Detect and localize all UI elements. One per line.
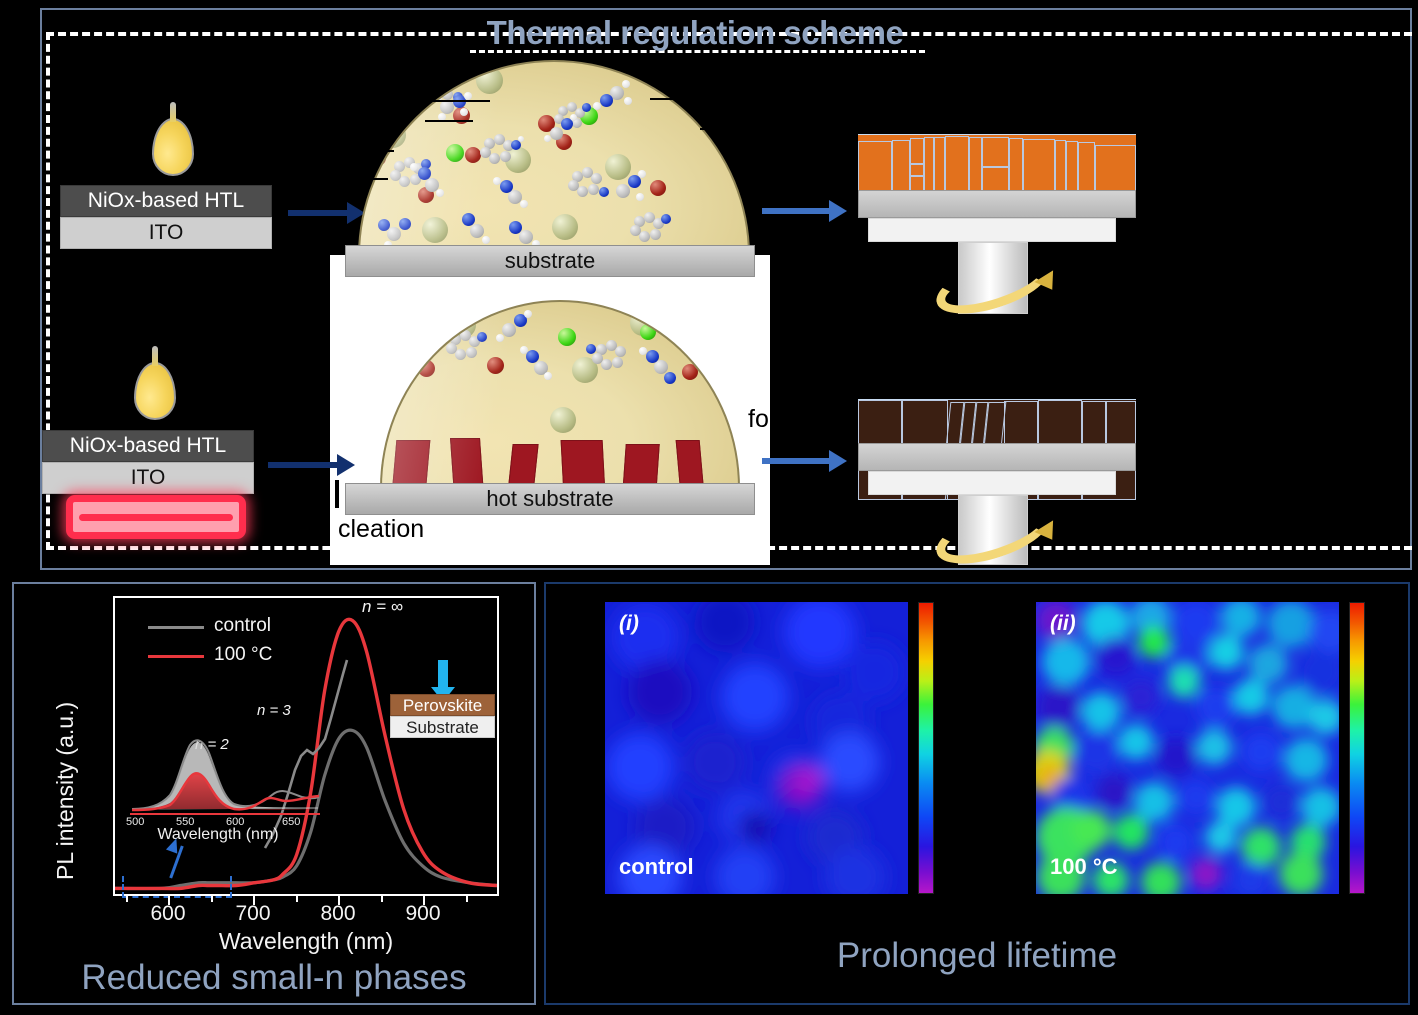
ink-droplet-icon-control	[152, 118, 194, 176]
perovskite-nuclei	[676, 440, 705, 488]
pl-y-axis-label: PL intensity (a.u.)	[52, 702, 79, 880]
nucleation-annotation: cleation	[338, 515, 424, 544]
leader-line	[420, 100, 490, 102]
perovskite-nuclei	[450, 438, 484, 488]
perovskite-nuclei	[622, 444, 659, 488]
substrate-label-heated: hot substrate	[345, 483, 755, 515]
annotation-tick	[335, 480, 339, 508]
legend-swatch-hot	[148, 655, 204, 658]
chloride-ion	[580, 107, 598, 125]
coater-substrate-heated	[858, 443, 1136, 471]
iodide-ion	[556, 134, 572, 150]
caption-right: Prolonged lifetime	[546, 936, 1408, 976]
cesium-ion	[476, 67, 503, 94]
map-i-svg	[605, 602, 908, 894]
rainbow-colorbar-ii	[1349, 602, 1365, 894]
x-tick-minor	[211, 896, 213, 902]
leader-line	[352, 150, 394, 152]
x-tick-label-700: 700	[223, 902, 283, 926]
cesium-ion	[672, 320, 696, 344]
iodide-ion	[465, 147, 481, 163]
iodide-ion	[418, 360, 435, 377]
cesium-ion	[422, 217, 448, 243]
chloride-ion	[446, 144, 464, 162]
iodide-ion	[487, 357, 504, 374]
perovskite-nuclei	[507, 444, 538, 488]
scheme-title: Thermal regulation scheme	[460, 14, 930, 52]
htl-layer-label-heated: NiOx-based HTL	[42, 430, 254, 462]
legend-label-hot: 100 °C	[214, 644, 272, 666]
hotplate-heating-element-icon	[66, 495, 246, 539]
leader-line	[425, 120, 473, 122]
cesium-ion	[630, 310, 656, 336]
perovskite-nuclei	[561, 440, 606, 488]
baseline-zoom-bracket	[122, 876, 232, 898]
cesium-ion	[572, 357, 598, 383]
pl-lifetime-map-control: (i) control	[605, 602, 908, 894]
iodide-ion	[370, 150, 386, 166]
iodide-ion	[418, 187, 434, 203]
transfer-arrow-control	[762, 208, 830, 214]
x-tick-minor	[466, 896, 468, 902]
cesium-ion	[505, 147, 531, 173]
coater-substrate-control	[858, 190, 1136, 218]
substrate-stack-heated: NiOx-based HTL ITO	[42, 430, 254, 494]
stack-legend-perovskite: Perovskite	[390, 694, 495, 716]
x-tick-label-600: 600	[138, 902, 198, 926]
coater-chuck-heated	[868, 471, 1116, 495]
pl-x-axis-label: Wavelength (nm)	[113, 928, 499, 955]
perovskite-nuclei	[392, 440, 431, 488]
chloride-ion	[640, 324, 656, 340]
peak-label-n-3: n = 3	[257, 702, 291, 719]
peak-label-n-inf: n = ∞	[362, 597, 403, 617]
formation-annotation: fo	[748, 405, 769, 434]
pl-inset-plot	[130, 735, 320, 825]
x-tick-minor	[126, 896, 128, 902]
x-tick-label-800: 800	[308, 902, 368, 926]
cesium-ion	[552, 214, 578, 240]
inset-xtick-500: 500	[126, 816, 144, 828]
x-tick-label-900: 900	[393, 902, 453, 926]
process-arrow-heated	[268, 462, 338, 468]
stack-pointer-arrow	[438, 660, 448, 688]
map-label-heated: 100 °C	[1050, 854, 1118, 880]
coater-chuck-control	[868, 218, 1116, 242]
ito-layer-label-heated: ITO	[42, 462, 254, 494]
stack-legend-substrate: Substrate	[390, 716, 495, 738]
transfer-arrow-heated	[762, 458, 830, 464]
htl-layer-label-control: NiOx-based HTL	[60, 185, 272, 217]
substrate-label-control: substrate	[345, 245, 755, 277]
leader-line	[700, 128, 752, 130]
map-tag-ii: (ii)	[1050, 612, 1076, 636]
process-arrow-control	[288, 210, 348, 216]
iodide-ion	[538, 115, 555, 132]
map-label-control: control	[619, 854, 694, 880]
iodide-ion	[650, 180, 666, 196]
caption-left: Reduced small-n phases	[14, 958, 534, 998]
chloride-ion	[558, 328, 576, 346]
pl-lifetime-map-heated: (ii) 100 °C	[1036, 602, 1339, 894]
rainbow-colorbar-i	[918, 602, 934, 894]
iodide-ion	[682, 364, 698, 380]
leader-line	[650, 98, 710, 100]
substrate-stack-control: NiOx-based HTL ITO	[60, 185, 272, 249]
legend-label-control: control	[214, 615, 271, 637]
cesium-ion	[380, 122, 406, 148]
x-tick-minor	[381, 896, 383, 902]
leader-line	[350, 178, 388, 180]
legend-swatch-control	[148, 626, 204, 629]
cesium-ion	[605, 154, 631, 180]
perovskite-film-control	[858, 134, 1136, 190]
map-ii-svg	[1036, 602, 1339, 894]
x-tick-minor	[296, 896, 298, 902]
pl-inset-svg	[130, 735, 320, 827]
map-tag-i: (i)	[619, 612, 639, 636]
ink-droplet-icon-heated	[134, 362, 176, 420]
cesium-ion	[550, 407, 576, 433]
ito-layer-label-control: ITO	[60, 217, 272, 249]
